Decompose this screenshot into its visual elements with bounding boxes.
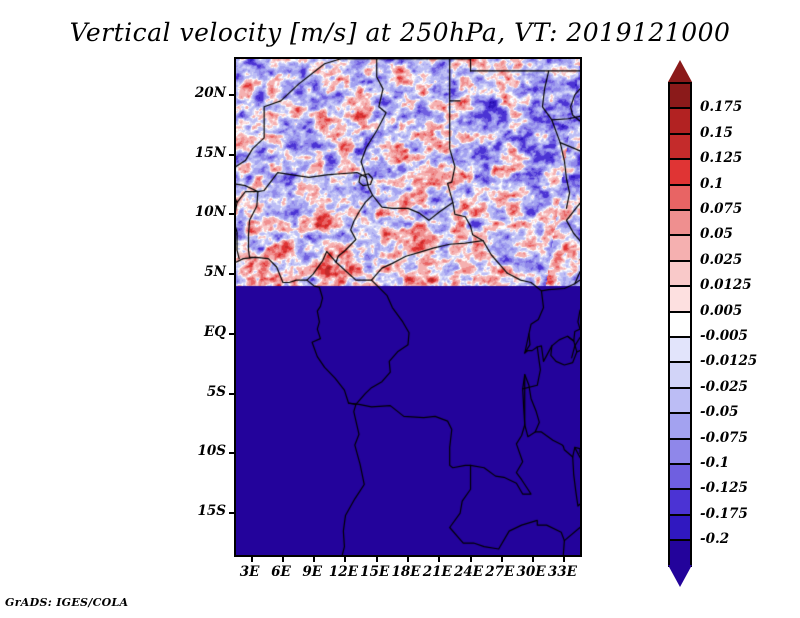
x-tick-mark — [376, 555, 378, 562]
x-tick-mark — [251, 555, 253, 562]
colorbar-tick-label: -0.1 — [700, 455, 729, 471]
y-axis-label: 20N — [166, 85, 226, 101]
colorbar-tick-label: -0.075 — [700, 430, 748, 446]
colorbar-tick-label: -0.0125 — [700, 353, 757, 369]
y-axis-label: EQ — [166, 324, 226, 340]
x-tick-mark — [407, 555, 409, 562]
colorbar-tick-label: 0.0125 — [700, 277, 752, 293]
colorbar-tick-label: -0.05 — [700, 404, 738, 420]
y-tick-mark — [229, 213, 236, 215]
x-tick-mark — [532, 555, 534, 562]
colorbar-max-arrow — [668, 60, 692, 82]
x-tick-mark — [563, 555, 565, 562]
colorbar-tick-label: -0.125 — [700, 480, 748, 496]
colorbar-tick-label: 0.075 — [700, 201, 742, 217]
colorbar-swatch — [668, 260, 692, 287]
colorbar-tick-label: 0.025 — [700, 252, 742, 268]
colorbar-tick-label: 0.15 — [700, 125, 733, 141]
colorbar-tick-label: -0.005 — [700, 328, 748, 344]
colorbar-swatch — [668, 463, 692, 490]
y-axis-label: 15N — [166, 145, 226, 161]
x-tick-mark — [282, 555, 284, 562]
colorbar-swatch — [668, 82, 692, 109]
colorbar-swatch — [668, 158, 692, 185]
colorbar-swatch — [668, 311, 692, 338]
y-axis-label: 10S — [166, 443, 226, 459]
colorbar-swatch — [668, 387, 692, 414]
colorbar-tick-label: 0.05 — [700, 226, 733, 242]
page-title: Vertical velocity [m/s] at 250hPa, VT: 2… — [0, 18, 800, 47]
y-tick-mark — [229, 154, 236, 156]
colorbar-swatch — [668, 209, 692, 236]
x-tick-mark — [501, 555, 503, 562]
colorbar-tick-label: 0.1 — [700, 176, 724, 192]
y-axis-label: 10N — [166, 204, 226, 220]
y-tick-mark — [229, 94, 236, 96]
colorbar-swatch — [668, 514, 692, 541]
map-plot-area — [234, 57, 582, 557]
colorbar-swatch — [668, 285, 692, 312]
colorbar-swatch — [668, 184, 692, 211]
grads-attribution: GrADS: IGES/COLA — [5, 596, 128, 609]
colorbar-swatch — [668, 234, 692, 261]
y-tick-mark — [229, 333, 236, 335]
colorbar-tick-label: 0.175 — [700, 99, 742, 115]
colorbar-tick-label: -0.2 — [700, 531, 729, 547]
x-tick-mark — [438, 555, 440, 562]
colorbar-swatch — [668, 361, 692, 388]
colorbar-swatch — [668, 539, 692, 566]
x-tick-mark — [313, 555, 315, 562]
y-tick-mark — [229, 273, 236, 275]
colorbar-swatch — [668, 107, 692, 134]
colorbar-swatch — [668, 438, 692, 465]
colorbar-tick-label: -0.175 — [700, 506, 748, 522]
y-axis-label: 15S — [166, 503, 226, 519]
y-tick-mark — [229, 512, 236, 514]
colorbar-tick-label: 0.125 — [700, 150, 742, 166]
y-axis-label: 5N — [166, 264, 226, 280]
y-tick-mark — [229, 393, 236, 395]
x-axis-label: 33E — [539, 564, 585, 580]
colorbar-swatch — [668, 488, 692, 515]
colorbar-swatch — [668, 133, 692, 160]
colorbar-swatch — [668, 336, 692, 363]
y-axis-label: 5S — [166, 384, 226, 400]
country-boundaries-overlay — [236, 59, 580, 555]
colorbar: 0.1750.150.1250.10.0750.050.0250.01250.0… — [668, 60, 800, 560]
x-tick-mark — [344, 555, 346, 562]
colorbar-min-arrow — [668, 565, 692, 587]
colorbar-swatch — [668, 412, 692, 439]
colorbar-tick-label: -0.025 — [700, 379, 748, 395]
colorbar-tick-label: 0.005 — [700, 303, 742, 319]
x-tick-mark — [470, 555, 472, 562]
y-tick-mark — [229, 452, 236, 454]
